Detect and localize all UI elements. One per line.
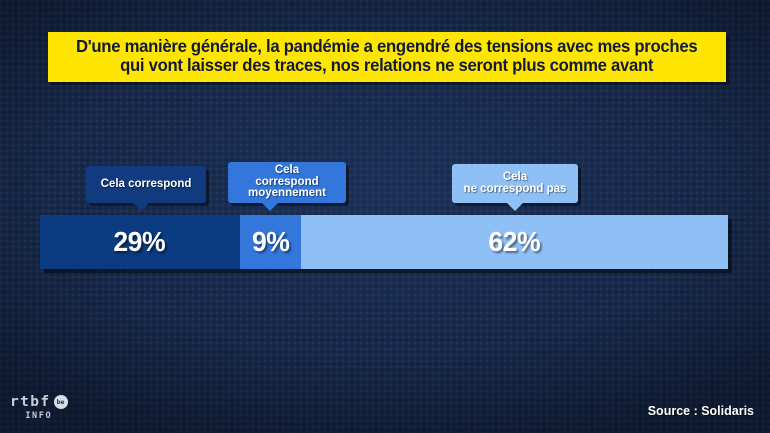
bar-segment-value: 62%	[489, 226, 541, 258]
source-attribution: Source : Solidaris	[648, 404, 754, 418]
logo-subtitle: INFO	[25, 411, 52, 421]
bar-segment-value: 29%	[114, 226, 166, 258]
legend-callout-label-line-2: correspond	[255, 176, 318, 188]
title-banner: D'une manière générale, la pandémie a en…	[48, 32, 726, 82]
legend-callout-label-line-1: Cela	[275, 164, 299, 176]
title-line-1: D'une manière générale, la pandémie a en…	[76, 36, 697, 56]
logo-row: rtbf be	[10, 394, 68, 410]
bar-segment-cela-correspond[interactable]: 29%	[40, 215, 240, 269]
title-line-2: qui vont laisser des traces, nos relatio…	[76, 56, 697, 75]
legend-callout-label-line-2: ne correspond pas	[464, 183, 567, 195]
callout-pointer-icon	[132, 202, 150, 211]
legend-callout-label-line-3: moyennement	[248, 187, 326, 199]
legend-callout-label-line-1: Cela	[503, 171, 527, 183]
legend-callout-cela-ne-correspond-pas[interactable]: Cela ne correspond pas	[452, 164, 578, 203]
logo-be-badge-icon: be	[54, 395, 68, 409]
legend-callout-cela-correspond-moyennement[interactable]: Cela correspond moyennement	[228, 162, 346, 203]
bar-segment-cela-correspond-moyennement[interactable]: 9%	[240, 215, 302, 269]
legend-callout-label: Cela correspond	[93, 179, 200, 191]
legend-callout-label: Cela correspond moyennement	[240, 165, 334, 201]
bar-segment-value: 9%	[252, 226, 289, 258]
callout-pointer-icon	[506, 202, 524, 211]
logo-wordmark: rtbf	[10, 394, 51, 410]
bar-segment-cela-ne-correspond-pas[interactable]: 62%	[301, 215, 728, 269]
stacked-bar-chart: 29% 9% 62%	[40, 215, 728, 269]
legend-callout-label: Cela ne correspond pas	[456, 172, 575, 196]
callout-pointer-icon	[261, 202, 279, 211]
legend-callout-cela-correspond[interactable]: Cela correspond	[86, 166, 206, 203]
page-title: D'une manière générale, la pandémie a en…	[76, 37, 697, 74]
rtbf-info-logo: rtbf be INFO	[10, 394, 68, 421]
